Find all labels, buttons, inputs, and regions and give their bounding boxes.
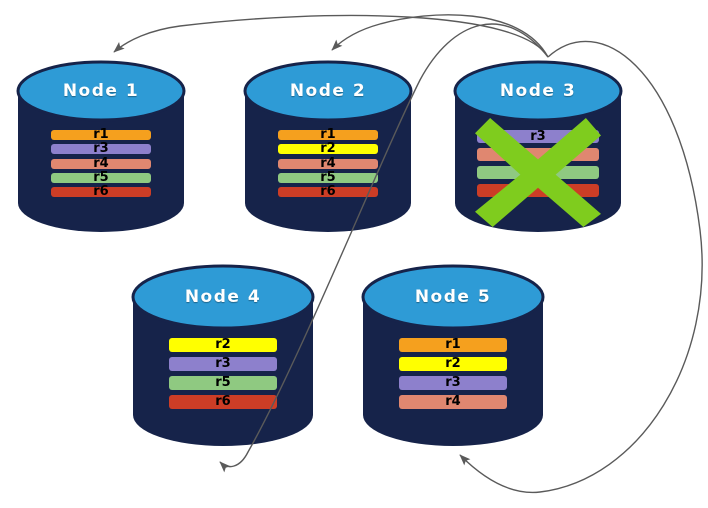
replica-bar[interactable]: r3: [477, 130, 599, 143]
cylinder-top: [455, 62, 621, 120]
db-node-3[interactable]: Node 3r3: [455, 62, 621, 232]
cylinder-top: [18, 62, 184, 120]
replica-bar[interactable]: r3: [169, 357, 277, 371]
replica-bar[interactable]: r2: [169, 338, 277, 352]
replica-bar[interactable]: r4: [278, 159, 378, 169]
replica-bar[interactable]: r3: [51, 144, 151, 154]
db-node-5[interactable]: Node 5r1r2r3r4: [363, 266, 543, 446]
replica-bar[interactable]: r1: [278, 130, 378, 140]
replica-bar[interactable]: r5: [278, 173, 378, 183]
cylinder-top: [363, 266, 543, 328]
db-node-4[interactable]: Node 4r2r3r5r6: [133, 266, 313, 446]
arrow-node3-to-node1: [114, 15, 548, 57]
arrow-node3-to-node2: [332, 15, 548, 57]
db-node-1[interactable]: Node 1r1r3r4r5r6: [18, 62, 184, 232]
replica-bar[interactable]: r6: [169, 395, 277, 409]
replica-bar[interactable]: r1: [51, 130, 151, 140]
replica-bar[interactable]: r4: [399, 395, 507, 409]
replica-bar[interactable]: r2: [278, 144, 378, 154]
replica-bar[interactable]: [477, 184, 599, 197]
replica-bar[interactable]: r3: [399, 376, 507, 390]
replica-bar[interactable]: r1: [399, 338, 507, 352]
replica-bar[interactable]: r4: [51, 159, 151, 169]
replica-bar[interactable]: r2: [399, 357, 507, 371]
cylinder-top: [245, 62, 411, 120]
replica-bar[interactable]: [477, 148, 599, 161]
replica-bar[interactable]: [477, 166, 599, 179]
replica-bar[interactable]: r5: [51, 173, 151, 183]
replica-bar[interactable]: r5: [169, 376, 277, 390]
replica-bar[interactable]: r6: [51, 187, 151, 197]
db-node-2[interactable]: Node 2r1r2r4r5r6: [245, 62, 411, 232]
cylinder-top: [133, 266, 313, 328]
replica-bar[interactable]: r6: [278, 187, 378, 197]
diagram-canvas: Node 1r1r3r4r5r6Node 2r1r2r4r5r6Node 3r3…: [0, 0, 708, 508]
